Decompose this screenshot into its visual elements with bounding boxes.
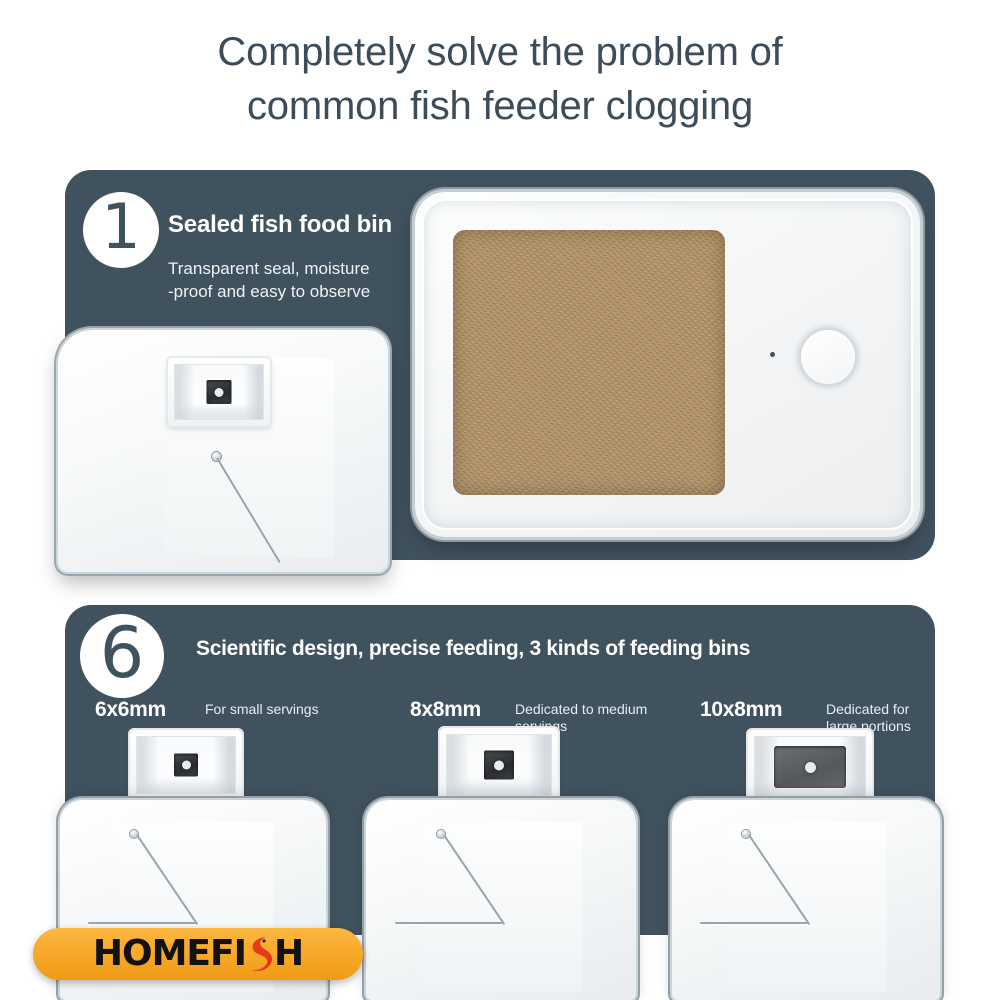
feeding-hopper-10x8	[748, 730, 872, 804]
status-led-indicator	[770, 352, 775, 357]
aperture-center-dot	[494, 760, 504, 770]
bin-desc-2-line-1: Dedicated to medium	[515, 701, 665, 718]
homefish-brand-logo: HOMEFI H	[33, 928, 363, 980]
panel-number-badge-1: 1	[83, 192, 159, 268]
koi-fish-icon	[245, 935, 275, 973]
hopper-aperture	[207, 380, 232, 404]
hopper-aperture	[774, 746, 846, 788]
product-infographic: Completely solve the problem of common f…	[0, 0, 1000, 1000]
bin-desc-1: For small servings	[205, 701, 375, 718]
feeding-hopper-6x6	[130, 730, 242, 800]
panel-1-subtitle-line-2: -proof and easy to observe	[168, 281, 428, 304]
panel-number-badge-6: 6	[80, 614, 164, 698]
wire-diagonal-arm	[748, 834, 810, 925]
wire-diagonal-arm	[443, 834, 505, 925]
wire-horizontal-arm	[88, 922, 196, 924]
bin-desc-1-line-1: For small servings	[205, 701, 375, 718]
aperture-center-dot	[215, 388, 224, 397]
panel-1-subtitle: Transparent seal, moisture -proof and ea…	[168, 258, 428, 304]
bin-size-label-3: 10x8mm	[700, 698, 782, 722]
feeder-wire-bracket-3	[742, 830, 872, 940]
bin-size-label-2: 8x8mm	[410, 698, 481, 722]
hopper-funnel	[446, 734, 552, 796]
logo-text-before: HOMEFI	[93, 936, 246, 972]
feeding-hopper-8x8	[440, 728, 558, 802]
feeder-wire-bracket-1	[130, 830, 260, 940]
page-headline: Completely solve the problem of common f…	[0, 26, 1000, 133]
hopper-aperture	[174, 754, 198, 777]
feeding-hopper-main	[168, 358, 270, 426]
panel-number-1: 1	[101, 196, 140, 258]
feeder-wire-bracket-main	[168, 452, 338, 570]
logo-wordmark: HOMEFI H	[93, 935, 303, 973]
feeder-wire-bracket-2	[437, 830, 567, 940]
wire-horizontal-arm	[700, 922, 808, 924]
panel-1-subtitle-line-1: Transparent seal, moisture	[168, 258, 428, 281]
fish-food-pellets	[453, 230, 725, 495]
hopper-aperture	[484, 751, 514, 780]
wire-diagonal-arm	[216, 457, 281, 563]
bin-desc-3-line-1: Dedicated for	[826, 701, 956, 718]
panel-number-6: 6	[100, 618, 145, 688]
headline-line-2: common fish feeder clogging	[0, 80, 1000, 134]
panel-6-title: Scientific design, precise feeding, 3 ki…	[196, 637, 750, 661]
hopper-funnel	[174, 364, 264, 420]
hopper-funnel	[136, 736, 236, 794]
panel-1-title: Sealed fish food bin	[168, 211, 392, 239]
wire-horizontal-arm	[395, 922, 503, 924]
feeder-tray-photo	[415, 192, 920, 537]
wire-diagonal-arm	[136, 834, 198, 925]
hopper-funnel	[754, 736, 866, 798]
feeder-round-button	[801, 330, 855, 384]
aperture-center-dot	[182, 761, 191, 770]
headline-line-1: Completely solve the problem of	[0, 26, 1000, 80]
aperture-center-dot	[805, 762, 816, 773]
bin-size-label-1: 6x6mm	[95, 698, 166, 722]
logo-text-after: H	[274, 936, 303, 972]
